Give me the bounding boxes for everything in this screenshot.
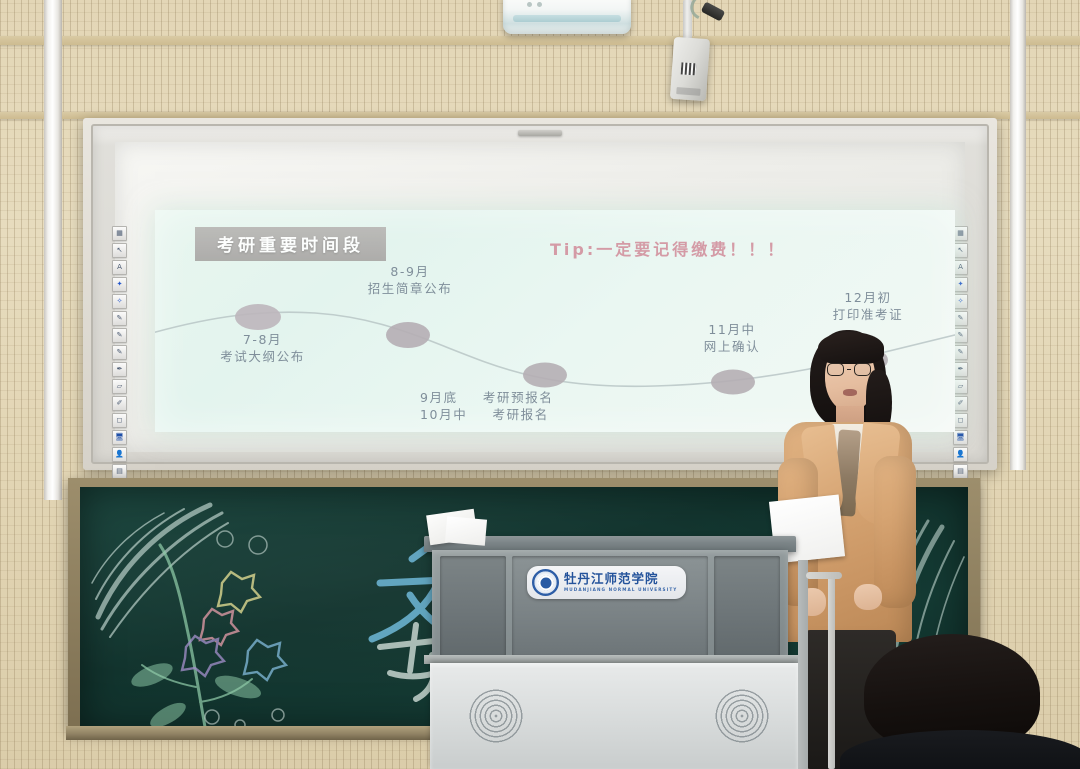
wall-pillar-right (1010, 0, 1026, 470)
presenter-hand-right (854, 584, 882, 610)
university-logo-text: 牡丹江师范学院 MUDANJIANG NORMAL UNIVERSITY (564, 573, 677, 592)
marker-icon[interactable]: ✒ (953, 362, 968, 377)
timeline-event: 考试大纲公布 (175, 349, 350, 366)
podium-right-panel (714, 556, 780, 656)
pen3-icon[interactable]: ✎ (112, 345, 127, 360)
timeline-date: 8-9月 (320, 264, 500, 281)
timeline-node (235, 304, 281, 330)
glasses-lens-right (854, 363, 871, 376)
timeline-label-3: 9月底 考研预报名 10月中 考研报名 (420, 390, 650, 423)
timeline-date: 10月中 (420, 407, 467, 422)
classroom-scene: ▦ ↖ A ✦ ✧ ✎ ✎ ✎ ✒ ▱ ✐ ◻ 🖥 👤 ▤ ▢ ⇖ ≡ (0, 0, 1080, 769)
monitor-icon[interactable]: 🖥 (953, 430, 968, 445)
grid-icon[interactable]: ▤ (953, 464, 968, 479)
ac-indicator-dot (537, 2, 542, 7)
student-shoulder (840, 730, 1080, 769)
pen2-icon[interactable]: ✎ (112, 328, 127, 343)
camera-text-label (677, 87, 701, 96)
timeline-date: 12月初 (793, 290, 943, 307)
timeline-date: 7-8月 (175, 332, 350, 349)
timeline-label-5: 12月初 打印准考证 (793, 290, 943, 323)
speaker-grille-right (714, 688, 770, 744)
eraser-icon[interactable]: ▱ (953, 379, 968, 394)
podium-rail-top (806, 572, 842, 579)
screen-icon[interactable]: ▦ (953, 226, 968, 241)
pen-blue-icon[interactable]: ✦ (112, 277, 127, 292)
timeline-node (711, 370, 755, 395)
screen-icon[interactable]: ▦ (112, 226, 127, 241)
pen-icon[interactable]: ✎ (953, 311, 968, 326)
presenter-glasses (827, 363, 871, 376)
timeline-date: 9月底 (420, 390, 458, 405)
speaker-grille-left (468, 688, 524, 744)
chalk-dew-left (205, 531, 284, 730)
pen2-icon[interactable]: ✎ (953, 328, 968, 343)
air-conditioner (503, 0, 631, 34)
pen-blue2-icon[interactable]: ✧ (112, 294, 127, 309)
timeline-node (523, 363, 567, 388)
podium-left-panel (440, 556, 506, 656)
ac-indicator-dot (527, 2, 532, 7)
glasses-lens-left (827, 363, 844, 376)
timeline-event: 招生简章公布 (320, 281, 500, 298)
marker-icon[interactable]: ✒ (112, 362, 127, 377)
wall-pillar-left (44, 0, 62, 500)
university-name-cn: 牡丹江师范学院 (564, 573, 677, 586)
highlighter-icon[interactable]: ✐ (953, 396, 968, 411)
person-icon[interactable]: 👤 (112, 447, 127, 462)
timeline-node (386, 322, 430, 348)
eraser-icon[interactable]: ▱ (112, 379, 127, 394)
timeline-event: 考研报名 (492, 407, 548, 422)
chalk-flowers-left (182, 572, 286, 680)
timeline-label-2: 8-9月 招生简章公布 (320, 264, 500, 297)
grid-icon[interactable]: ▤ (112, 464, 127, 479)
student-foreground (846, 634, 1080, 769)
camera-qr-label (681, 62, 697, 75)
timeline-label-1: 7-8月 考试大纲公布 (175, 332, 350, 365)
presenter-sleeve-right (874, 456, 916, 608)
podium-side-right (798, 560, 808, 769)
monitor-icon[interactable]: 🖥 (112, 430, 127, 445)
university-seal-icon (532, 569, 559, 596)
pen-icon[interactable]: ✎ (112, 311, 127, 326)
pen3-icon[interactable]: ✎ (953, 345, 968, 360)
chalk-grass-left (92, 505, 228, 637)
person-icon[interactable]: 👤 (953, 447, 968, 462)
whiteboard-handle[interactable] (518, 130, 562, 136)
presenter-hair-front (818, 332, 884, 364)
glasses-bridge (847, 369, 851, 371)
ac-vent (513, 15, 621, 22)
shape-icon[interactable]: ◻ (112, 413, 127, 428)
podium-rail (828, 576, 835, 769)
shape-icon[interactable]: ◻ (953, 413, 968, 428)
university-logo: 牡丹江师范学院 MUDANJIANG NORMAL UNIVERSITY (527, 566, 686, 599)
wall-camera (670, 37, 710, 101)
podium-papers-2 (445, 516, 487, 545)
pen-blue-icon[interactable]: ✦ (953, 277, 968, 292)
timeline-event: 考研预报名 (483, 390, 554, 405)
timeline-row-2: 10月中 考研报名 (420, 407, 650, 424)
cursor-icon[interactable]: ↖ (112, 243, 127, 258)
pen-blue2-icon[interactable]: ✧ (953, 294, 968, 309)
text-icon[interactable]: A (112, 260, 127, 275)
timeline-event: 打印准考证 (793, 307, 943, 324)
timeline-row-1: 9月底 考研预报名 (420, 390, 650, 407)
presenter-mouth (843, 389, 857, 396)
university-name-en: MUDANJIANG NORMAL UNIVERSITY (564, 588, 677, 592)
cursor-icon[interactable]: ↖ (953, 243, 968, 258)
text-icon[interactable]: A (953, 260, 968, 275)
highlighter-icon[interactable]: ✐ (112, 396, 127, 411)
wall-trim-upper (0, 36, 1080, 45)
